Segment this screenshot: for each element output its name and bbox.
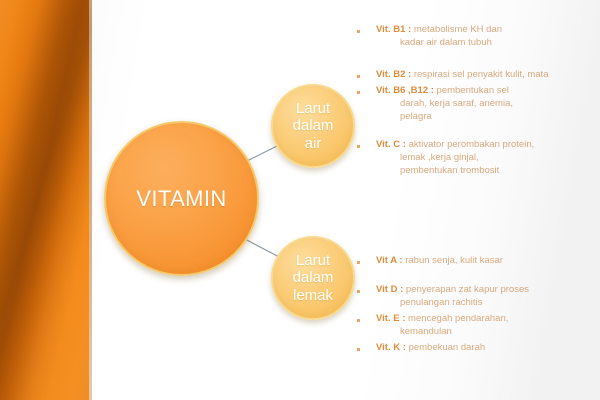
fact-line: kemandulan (376, 326, 598, 339)
bullet-icon (357, 319, 360, 322)
bullet-icon (357, 75, 360, 78)
fact-text: pembekuan darah (409, 342, 486, 353)
fact-text: rabun senja, kulit kasar (405, 255, 503, 266)
fact-line: Vit. B2 : respirasi sel penyakit kulit, … (376, 69, 598, 82)
fact-item: Vit. C : aktivator perombakan protein, l… (352, 139, 598, 178)
fact-label: Vit. B1 : (376, 24, 411, 35)
node-larut-dalam-air-label: Larut dalam air (293, 100, 334, 152)
fact-label: Vit D : (376, 284, 403, 295)
fact-item: Vit. B1 : metabolisme KH dan kadar air d… (352, 24, 598, 50)
fact-line: Vit. C : aktivator perombakan protein, (376, 139, 598, 152)
node-vitamin[interactable]: VITAMIN (104, 121, 259, 276)
fact-line: Vit. K : pembekuan darah (376, 342, 598, 355)
slide-canvas: VITAMIN Larut dalam air Larut dalam lema… (0, 0, 600, 400)
fact-item: Vit. B6 ,B12 : pembentukan sel darah, ke… (352, 85, 598, 124)
fact-item: Vit A : rabun senja, kulit kasar (352, 255, 598, 268)
spacer (352, 53, 598, 69)
bullet-icon (357, 290, 360, 293)
fact-text: metabolisme KH dan (414, 24, 502, 35)
fact-label: Vit. E : (376, 313, 405, 324)
water-soluble-fact-list: Vit. B1 : metabolisme KH dan kadar air d… (352, 24, 598, 181)
fact-line: penulangan rachitis (376, 297, 598, 310)
spacer (352, 271, 598, 284)
fact-label: Vit. B6 ,B12 : (376, 85, 434, 96)
fact-line: Vit. B6 ,B12 : pembentukan sel (376, 85, 598, 98)
fact-line: Vit D : penyerapan zat kapur proses (376, 284, 598, 297)
node-larut-dalam-lemak[interactable]: Larut dalam lemak (271, 236, 355, 320)
fact-line: darah, kerja saraf, anemia, (376, 98, 598, 111)
fact-item: Vit. E : mencegah pendarahan, kemandulan (352, 313, 598, 339)
bullet-icon (357, 91, 360, 94)
fact-line: kadar air dalam tubuh (376, 37, 598, 50)
spacer (352, 126, 598, 139)
bullet-icon (357, 261, 360, 264)
fact-text: penyerapan zat kapur proses (406, 284, 529, 295)
fact-line: Vit. E : mencegah pendarahan, (376, 313, 598, 326)
bullet-icon (357, 145, 360, 148)
fact-line: pelagra (376, 111, 598, 124)
fat-soluble-fact-list: Vit A : rabun senja, kulit kasar Vit D :… (352, 255, 598, 357)
bullet-icon (357, 348, 360, 351)
fact-line: Vit. B1 : metabolisme KH dan (376, 24, 598, 37)
fact-line: Vit A : rabun senja, kulit kasar (376, 255, 598, 268)
fact-text: aktivator perombakan protein, (409, 139, 535, 150)
fact-text: mencegah pendarahan, (408, 313, 508, 324)
fact-item: Vit. K : pembekuan darah (352, 342, 598, 355)
bullet-icon (357, 30, 360, 33)
fact-label: Vit. C : (376, 139, 406, 150)
node-larut-dalam-air[interactable]: Larut dalam air (271, 84, 355, 168)
fact-item: Vit. B2 : respirasi sel penyakit kulit, … (352, 69, 598, 82)
node-vitamin-label: VITAMIN (136, 186, 226, 212)
fact-item: Vit D : penyerapan zat kapur proses penu… (352, 284, 598, 310)
fact-label: Vit A : (376, 255, 403, 266)
fact-label: Vit. K : (376, 342, 406, 353)
fact-line: lemak ,kerja ginjal, (376, 152, 598, 165)
fact-text: respirasi sel penyakit kulit, mata (414, 69, 549, 80)
fact-line: pembentukan trombosit (376, 165, 598, 178)
fact-label: Vit. B2 : (376, 69, 411, 80)
fact-text: pembentukan sel (437, 85, 509, 96)
node-larut-dalam-lemak-label: Larut dalam lemak (293, 252, 334, 304)
